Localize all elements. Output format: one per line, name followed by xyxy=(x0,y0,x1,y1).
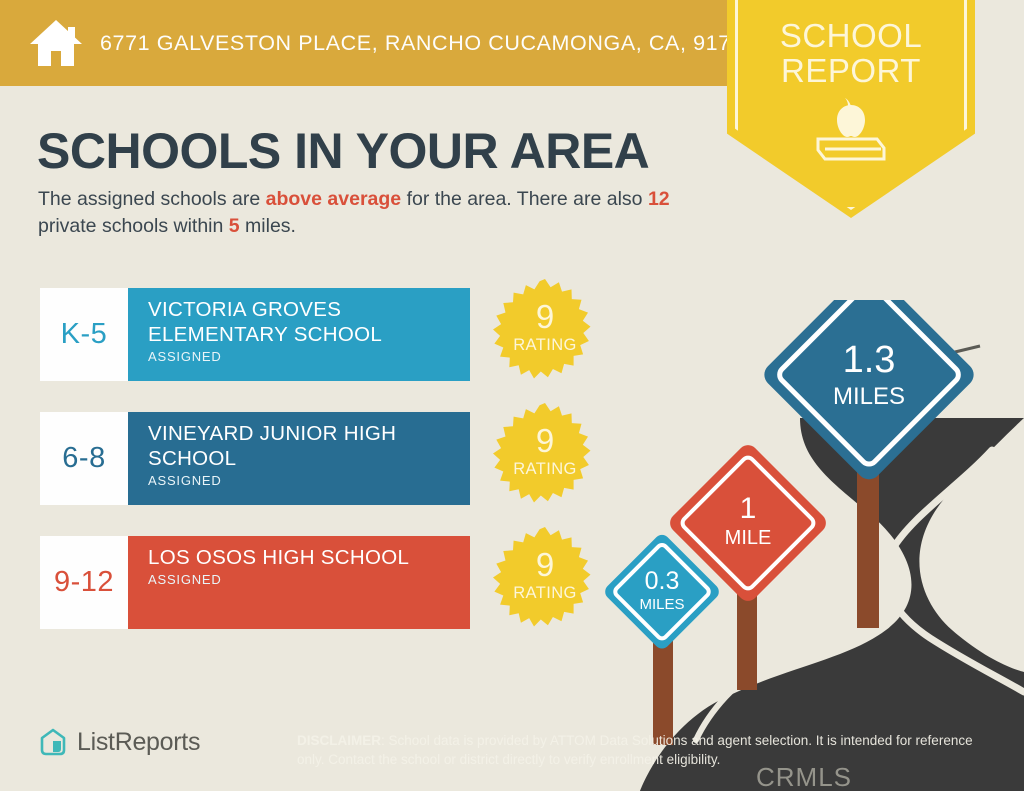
subtitle-text-4: miles. xyxy=(240,215,296,237)
road-signs-illustration: 1.3 MILES 1 MILE 0.3 MILES xyxy=(600,300,1024,791)
rating-value: 9 xyxy=(493,424,597,458)
disclaimer-label: DISCLAIMER xyxy=(297,733,381,748)
rating-starburst: 9 RATING xyxy=(493,402,597,514)
sign-post xyxy=(857,460,879,628)
sign-value: 0.3 xyxy=(645,567,680,595)
rating-value: 9 xyxy=(493,548,597,582)
book-icon xyxy=(815,136,887,162)
grade-range-badge: 6-8 xyxy=(40,412,128,505)
school-status: ASSIGNED xyxy=(148,473,470,488)
house-icon xyxy=(28,17,84,69)
rating-label: RATING xyxy=(493,584,597,603)
subtitle-text-1: The assigned schools are xyxy=(38,188,266,210)
disclaimer-body: : School data is provided by ATTOM Data … xyxy=(297,733,973,767)
address-header-bar: 6771 GALVESTON PLACE, RANCHO CUCAMONGA, … xyxy=(0,0,732,86)
badge-title-line2: REPORT xyxy=(727,53,975,88)
school-report-badge: SCHOOL REPORT xyxy=(727,0,975,218)
infographic-canvas: 6771 GALVESTON PLACE, RANCHO CUCAMONGA, … xyxy=(0,0,1024,791)
rating-starburst: 9 RATING xyxy=(493,526,597,638)
school-name: VINEYARD JUNIOR HIGH SCHOOL xyxy=(148,421,470,471)
school-info-bar: LOS OSOS HIGH SCHOOL ASSIGNED xyxy=(128,536,470,629)
rating-label: RATING xyxy=(493,336,597,355)
rating-starburst: 9 RATING xyxy=(493,278,597,390)
school-row[interactable]: 9-12 LOS OSOS HIGH SCHOOL ASSIGNED 9 RAT… xyxy=(40,536,470,629)
sign-unit: MILE xyxy=(725,527,772,549)
school-info-bar: VICTORIA GROVES ELEMENTARY SCHOOL ASSIGN… xyxy=(128,288,470,381)
school-info-bar: VINEYARD JUNIOR HIGH SCHOOL ASSIGNED xyxy=(128,412,470,505)
page-title: SCHOOLS IN YOUR AREA xyxy=(37,122,649,180)
logo-wordmark: ListReports xyxy=(77,728,200,757)
listreports-logo[interactable]: ListReports xyxy=(38,727,200,757)
sign-value: 1.3 xyxy=(843,339,896,381)
subtitle-text-3: private schools within xyxy=(38,215,229,237)
grade-range-badge: 9-12 xyxy=(40,536,128,629)
grade-range-badge: K-5 xyxy=(40,288,128,381)
subtitle-highlight-rating: above average xyxy=(266,188,402,210)
school-row[interactable]: 6-8 VINEYARD JUNIOR HIGH SCHOOL ASSIGNED… xyxy=(40,412,470,505)
sign-unit: MILES xyxy=(833,383,905,410)
badge-title: SCHOOL REPORT xyxy=(727,18,975,88)
crmls-watermark: CRMLS xyxy=(756,762,852,791)
badge-title-line1: SCHOOL xyxy=(727,18,975,53)
house-outline-icon xyxy=(38,727,68,757)
disclaimer-text: DISCLAIMER: School data is provided by A… xyxy=(297,731,987,769)
sign-unit: MILES xyxy=(639,596,684,613)
subtitle-highlight-count: 12 xyxy=(648,188,670,210)
property-address: 6771 GALVESTON PLACE, RANCHO CUCAMONGA, … xyxy=(100,31,756,56)
school-row[interactable]: K-5 VICTORIA GROVES ELEMENTARY SCHOOL AS… xyxy=(40,288,470,381)
apple-icon xyxy=(829,96,873,140)
school-name: VICTORIA GROVES ELEMENTARY SCHOOL xyxy=(148,297,470,347)
rating-value: 9 xyxy=(493,300,597,334)
page-subtitle: The assigned schools are above average f… xyxy=(38,186,718,240)
sign-value: 1 xyxy=(740,492,757,525)
school-name: LOS OSOS HIGH SCHOOL xyxy=(148,545,470,570)
rating-label: RATING xyxy=(493,460,597,479)
subtitle-highlight-radius: 5 xyxy=(229,215,240,237)
school-status: ASSIGNED xyxy=(148,572,470,587)
school-status: ASSIGNED xyxy=(148,349,470,364)
subtitle-text-2: for the area. There are also xyxy=(401,188,648,210)
